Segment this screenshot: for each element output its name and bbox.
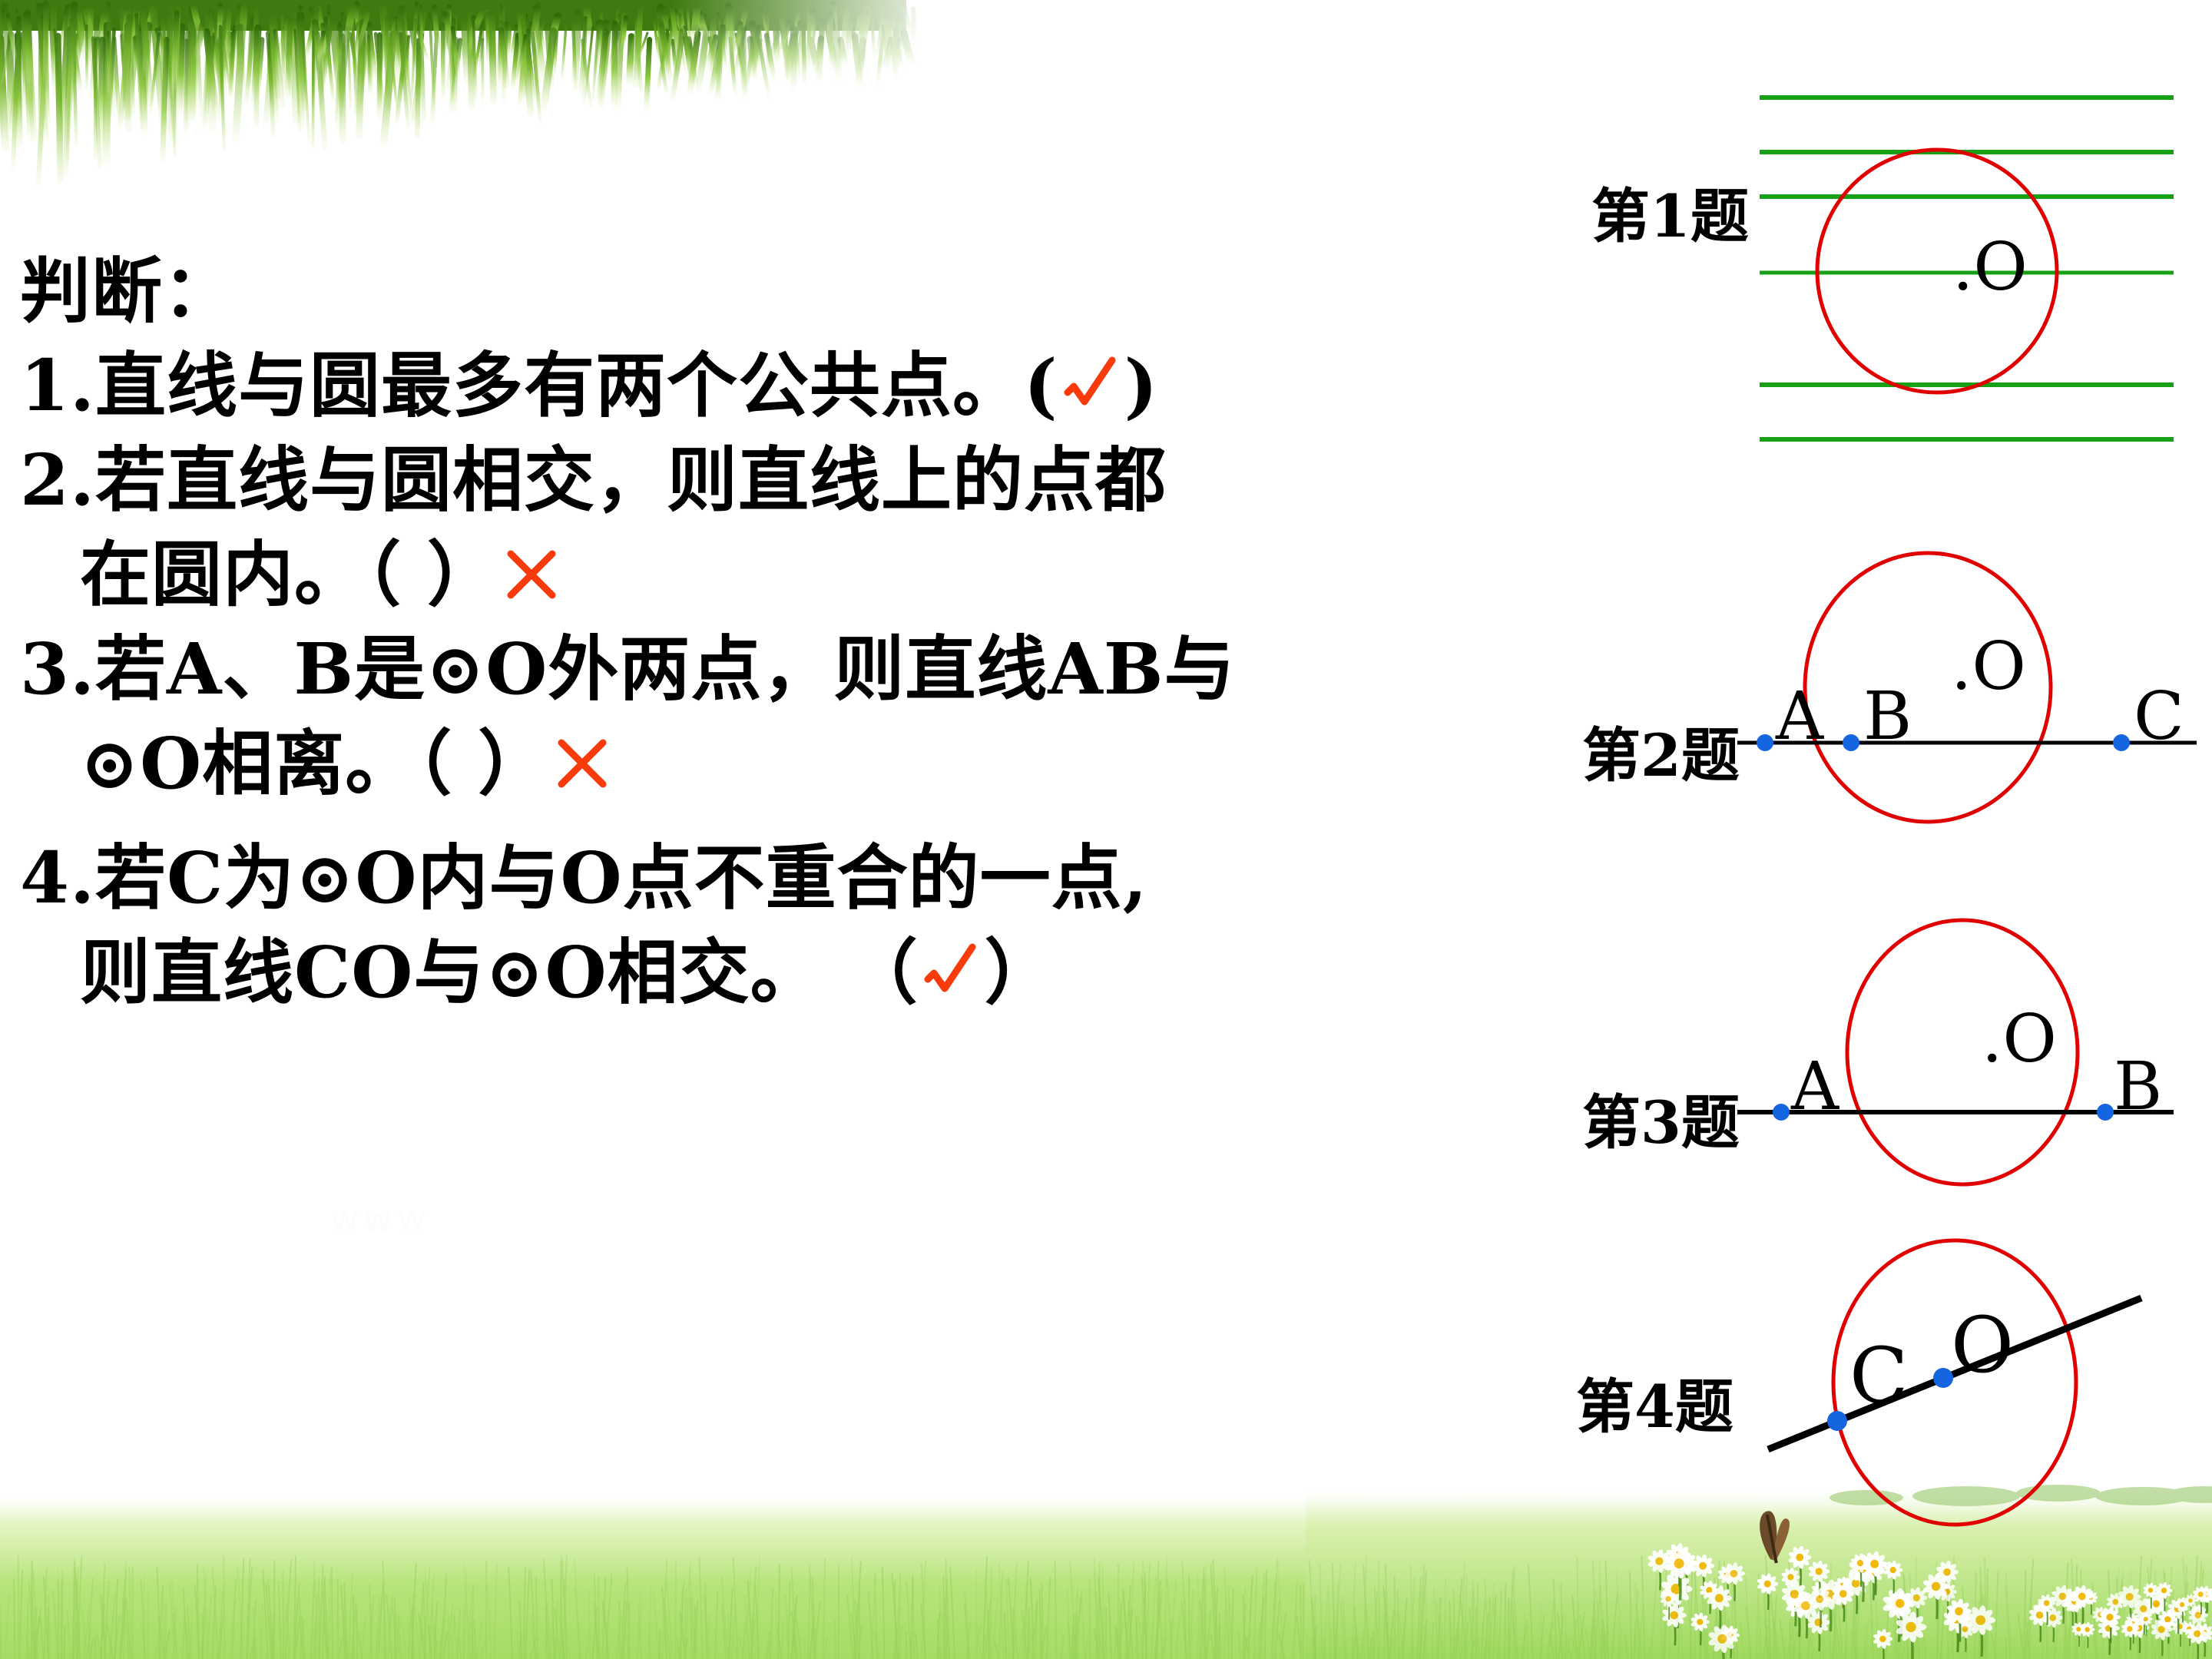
text-line-q1: 1.直线与圆最多有两个公共点。() [20,339,1525,433]
figure-2-center-label: .O [1951,634,2026,700]
figure-3-center-label: .O [1982,1006,2057,1072]
figure-3-label: 第3题 [1582,1075,1740,1160]
text-line-q4b: 则直线CO与⊙O相交。 （） [20,926,1525,1020]
figure-4: 第4题 C O [1567,1221,2212,1559]
figure-2: 第2题 .O A B C [1567,530,2212,876]
q3-text-line1: 3.若A、B是⊙O外两点，则直线AB与 [20,628,1236,710]
text-line-q2a: 2.若直线与圆相交，则直线上的点都 [20,433,1525,528]
text-line-q3b: ⊙O相离。（ ） [20,717,1525,811]
q2-text-line1: 2.若直线与圆相交，则直线上的点都 [20,439,1167,522]
faint-watermark: www [330,1198,431,1240]
willow-foliage-decoration [0,0,960,207]
figure-1: 第1题 .O [1567,46,2212,507]
figure-3: 第3题 .O A B [1567,891,2212,1221]
figure-3-point-a-label: A [1791,1054,1839,1120]
heading-label: 判断： [20,250,234,333]
text-line-q4a: 4.若C为⊙O内与O点不重合的一点, [20,831,1525,926]
figure-4-point-c-label: C [1849,1338,1909,1415]
q3-text-line2: ⊙O相离。（ ） [80,722,549,805]
q2-text-line2: 在圆内。（ ） [80,533,498,616]
q4-text-line1: 4.若C为⊙O内与O点不重合的一点, [20,836,1148,919]
q1-close-paren: ) [1124,344,1159,427]
q1-text: 1.直线与圆最多有两个公共点。( [20,344,1058,427]
figure-3-point-b-label: B [2114,1054,2162,1120]
cross-mark-icon [549,732,615,798]
q4-text-line2: 则直线CO与⊙O相交。 （ [80,931,919,1014]
check-mark-icon [1058,354,1124,420]
check-mark-icon [919,941,985,1007]
text-line-q2b: 在圆内。（ ） [20,528,1525,622]
figure-1-graphic [1567,46,2212,507]
text-line-q3a: 3.若A、B是⊙O外两点，则直线AB与 [20,622,1525,717]
figure-1-label: 第1题 [1591,169,1749,253]
figure-2-point-c-label: C [2134,684,2184,750]
figure-2-label: 第2题 [1582,708,1740,793]
figure-4-point-o-label: O [1951,1307,2014,1384]
question-text-block: 判断： 1.直线与圆最多有两个公共点。() 2.若直线与圆相交，则直线上的点都 … [20,244,1525,1020]
figure-2-point-a-label: A [1776,684,1823,750]
text-line-heading: 判断： [20,244,1525,339]
cross-mark-icon [498,543,565,609]
figure-2-point-b-label: B [1863,684,1912,750]
figure-1-center-label: .O [1952,234,2028,300]
slide-canvas: 判断： 1.直线与圆最多有两个公共点。() 2.若直线与圆相交，则直线上的点都 … [0,0,2212,1659]
figure-4-label: 第4题 [1576,1359,1734,1444]
q4-close-paren: ） [985,931,1056,1014]
